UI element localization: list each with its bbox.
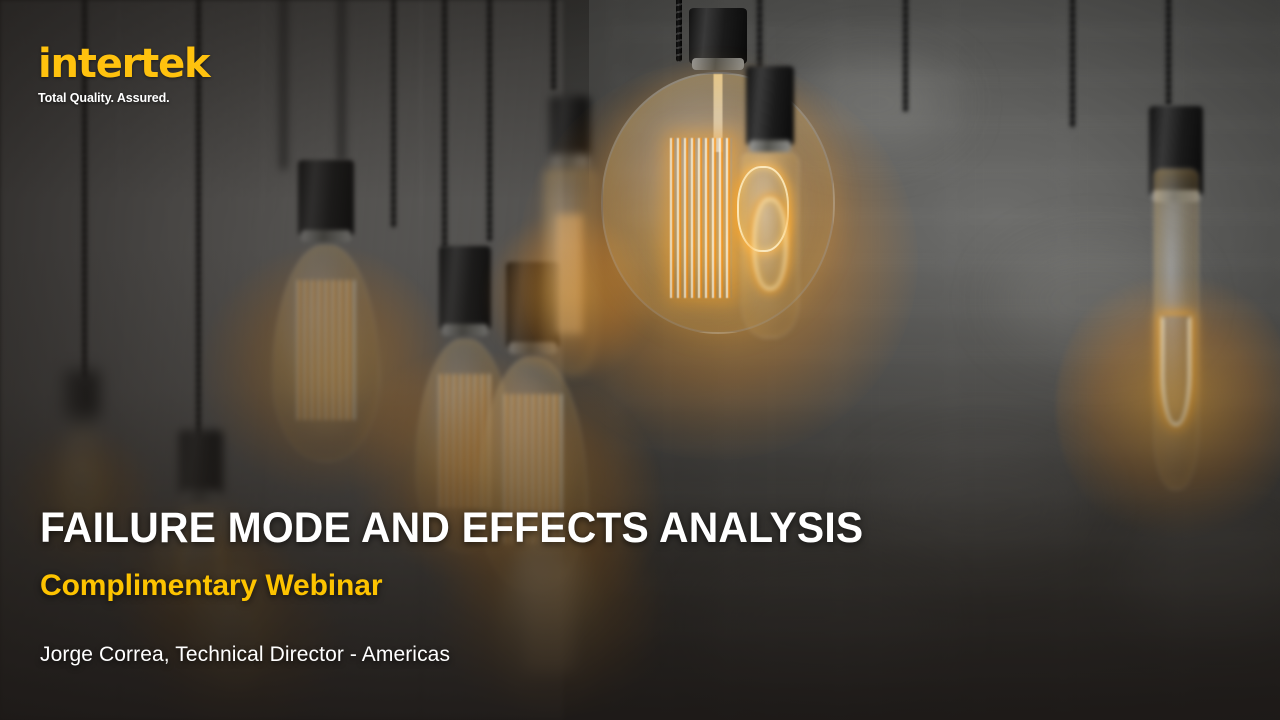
page-subtitle: Complimentary Webinar — [40, 571, 907, 601]
page-title: FAILURE MODE AND EFFECTS ANALYSIS — [40, 507, 863, 550]
webinar-title-slide: intertek Total Quality. Assured. FAILURE… — [0, 0, 1280, 720]
intertek-logo: intertek Total Quality. Assured. — [38, 44, 209, 105]
logo-tagline: Total Quality. Assured. — [38, 91, 209, 105]
logo-wordmark: intertek — [38, 44, 209, 84]
presenter-byline: Jorge Correa, Technical Director - Ameri… — [40, 644, 907, 665]
title-block: FAILURE MODE AND EFFECTS ANALYSIS Compli… — [40, 507, 907, 665]
